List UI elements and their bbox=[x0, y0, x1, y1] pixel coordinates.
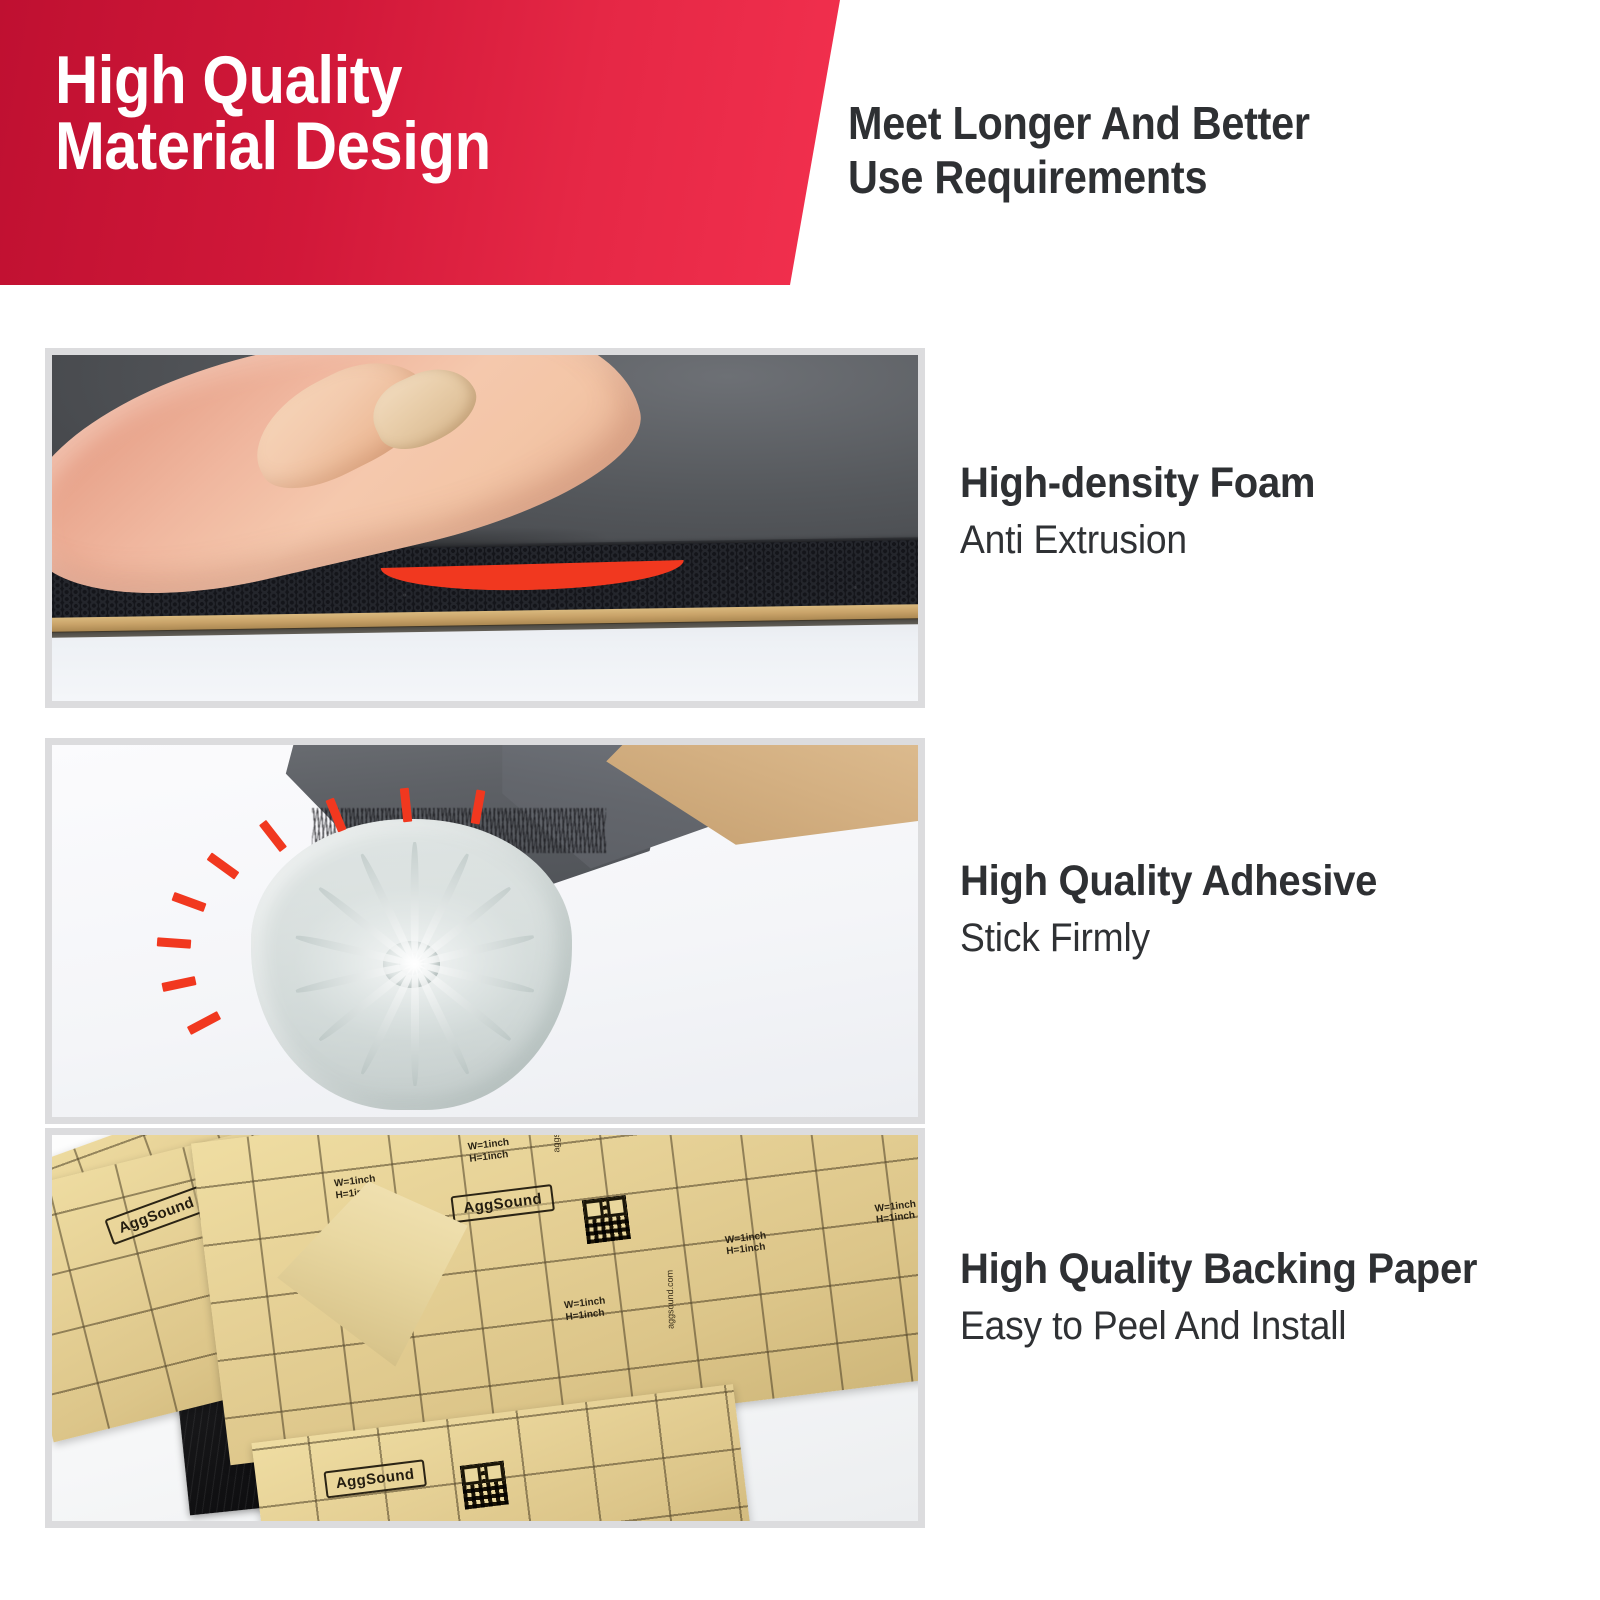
arc-dash bbox=[187, 1011, 221, 1035]
arc-dash bbox=[161, 976, 196, 992]
bottle-spoke bbox=[411, 843, 419, 965]
page-title: High Quality Material Design bbox=[55, 48, 689, 180]
feature-subtitle: Anti Extrusion bbox=[960, 517, 1555, 563]
photo-frame bbox=[45, 348, 925, 708]
bottle-spoke bbox=[411, 964, 419, 1086]
feature-subtitle: Easy to Peel And Install bbox=[960, 1303, 1555, 1349]
kraft-backing-paper-sheets-photo: AggSound AggSound W=1inch H=1inch AggSou… bbox=[52, 1135, 918, 1521]
photo-frame: AggSound AggSound W=1inch H=1inch AggSou… bbox=[45, 1128, 925, 1528]
header-subtitle: Meet Longer And Better Use Requirements bbox=[848, 96, 1514, 205]
feature-title: High-density Foam bbox=[960, 460, 1555, 507]
finger-pressing-foam-photo bbox=[52, 355, 918, 701]
foam-stuck-to-bottle-photo bbox=[52, 745, 918, 1117]
arc-dash bbox=[259, 820, 287, 852]
feature-row-high-density-foam: High-density Foam Anti Extrusion bbox=[0, 348, 1600, 708]
arc-dash bbox=[157, 937, 192, 948]
feature-title: High Quality Adhesive bbox=[960, 858, 1555, 905]
photo-frame bbox=[45, 738, 925, 1124]
header: High Quality Material Design Meet Longer… bbox=[0, 0, 1600, 300]
qr-code-icon bbox=[459, 1460, 508, 1509]
feature-title: High Quality Backing Paper bbox=[960, 1246, 1555, 1293]
plastic-bottle-base bbox=[251, 819, 571, 1109]
arc-dash bbox=[171, 892, 206, 912]
feature-row-high-quality-backing-paper: AggSound AggSound W=1inch H=1inch AggSou… bbox=[0, 1128, 1600, 1528]
feature-row-high-quality-adhesive: High Quality Adhesive Stick Firmly bbox=[0, 738, 1600, 1124]
feature-text-block: High Quality Backing Paper Easy to Peel … bbox=[960, 1246, 1600, 1349]
url-label: aggsound.com bbox=[664, 1270, 675, 1329]
qr-code-icon bbox=[582, 1195, 631, 1244]
arc-dash bbox=[206, 852, 239, 879]
feature-subtitle: Stick Firmly bbox=[960, 915, 1555, 961]
feature-text-block: High Quality Adhesive Stick Firmly bbox=[960, 858, 1600, 961]
url-label: aggsound.com bbox=[551, 1135, 562, 1153]
feature-text-block: High-density Foam Anti Extrusion bbox=[960, 460, 1600, 563]
